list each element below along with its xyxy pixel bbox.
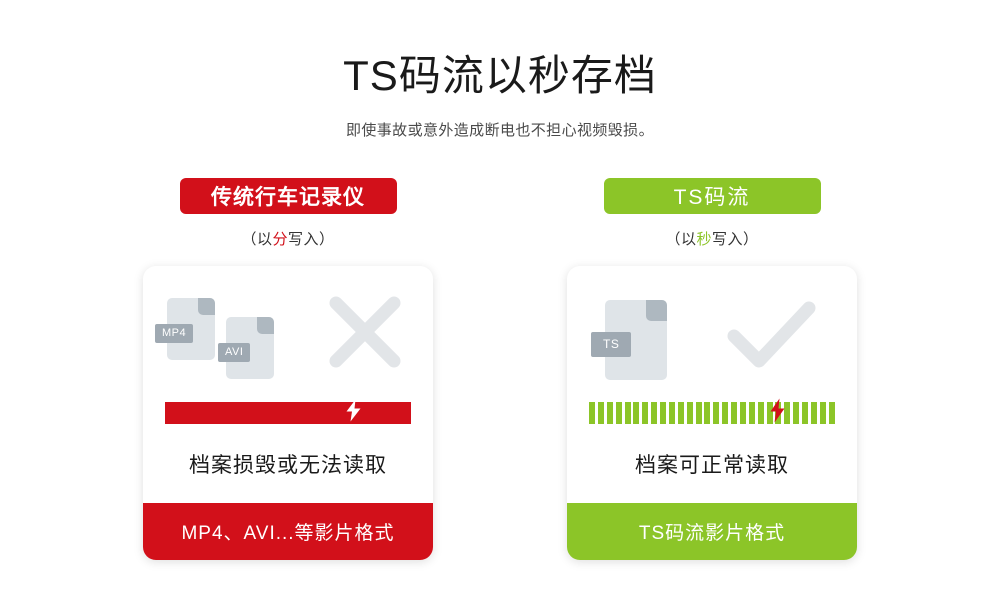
header: TS码流以秒存档 即使事故或意外造成断电也不担心视频毁损。	[0, 0, 1000, 140]
lightning-bolt-icon	[347, 400, 362, 427]
note-highlight: 秒	[696, 231, 712, 248]
page-subtitle: 即使事故或意外造成断电也不担心视频毁损。	[0, 99, 1000, 140]
file-tag-ts: TS	[591, 332, 631, 357]
card-caption-ts-stream: 档案可正常读取	[567, 424, 857, 503]
badge-ts-stream-note: （以秒写入）	[665, 228, 758, 249]
badge-traditional-label: 传统行车记录仪	[211, 181, 365, 211]
cross-icon	[327, 294, 403, 375]
progress-segment	[589, 402, 595, 424]
progress-segment	[731, 402, 737, 424]
icon-row-ts-stream: TS	[567, 266, 857, 402]
progress-segment	[749, 402, 755, 424]
progress-segment	[678, 402, 684, 424]
progress-bar-segments	[589, 402, 835, 424]
file-icon-ts: TS	[605, 300, 667, 380]
column-ts-stream: TS码流 （以秒写入） TS	[567, 178, 857, 560]
progress-segment	[696, 402, 702, 424]
progress-segment	[651, 402, 657, 424]
page-title: TS码流以秒存档	[0, 0, 1000, 99]
file-tag-mp4: MP4	[155, 324, 193, 343]
progress-segment	[793, 402, 799, 424]
note-suffix: 写入）	[712, 231, 759, 248]
progress-bar-ts-stream	[589, 402, 835, 424]
progress-segment	[669, 402, 675, 424]
progress-bar-traditional	[165, 402, 411, 424]
badge-traditional: 传统行车记录仪	[180, 178, 397, 214]
file-tag-avi: AVI	[218, 343, 250, 362]
card-caption-traditional: 档案损毁或无法读取	[143, 424, 433, 503]
file-fold-corner-icon	[257, 317, 274, 334]
card-footer-traditional: MP4、AVI...等影片格式	[143, 503, 433, 560]
badge-traditional-note: （以分写入）	[241, 228, 334, 249]
icon-row-traditional: MP4 AVI	[143, 266, 433, 402]
card-traditional: MP4 AVI	[143, 266, 433, 560]
progress-segment	[625, 402, 631, 424]
progress-segment	[740, 402, 746, 424]
infographic-page: TS码流以秒存档 即使事故或意外造成断电也不担心视频毁损。 传统行车记录仪 （以…	[0, 0, 1000, 600]
file-fold-corner-icon	[646, 300, 667, 321]
progress-segment	[687, 402, 693, 424]
file-icon-mp4: MP4	[167, 298, 215, 360]
note-prefix: （以	[665, 231, 696, 248]
note-highlight: 分	[272, 231, 288, 248]
column-traditional: 传统行车记录仪 （以分写入） MP4	[143, 178, 433, 560]
file-fold-corner-icon	[198, 298, 215, 315]
progress-segment	[758, 402, 764, 424]
progress-segment	[713, 402, 719, 424]
progress-segment	[820, 402, 826, 424]
lightning-bolt-icon	[771, 399, 786, 428]
progress-segment	[660, 402, 666, 424]
note-suffix: 写入）	[288, 231, 335, 248]
card-footer-ts-stream: TS码流影片格式	[567, 503, 857, 560]
progress-segment	[598, 402, 604, 424]
file-icon-avi: AVI	[226, 317, 274, 379]
check-icon	[727, 298, 817, 379]
progress-segment	[633, 402, 639, 424]
card-ts-stream: TS	[567, 266, 857, 560]
progress-bar-fill	[165, 402, 411, 424]
progress-segment	[607, 402, 613, 424]
note-prefix: （以	[241, 231, 272, 248]
progress-segment	[802, 402, 808, 424]
badge-ts-stream: TS码流	[604, 178, 821, 214]
progress-segment	[616, 402, 622, 424]
progress-segment	[722, 402, 728, 424]
progress-segment	[642, 402, 648, 424]
progress-segment	[811, 402, 817, 424]
comparison-columns: 传统行车记录仪 （以分写入） MP4	[0, 178, 1000, 560]
progress-segment	[829, 402, 835, 424]
badge-ts-stream-label: TS码流	[674, 181, 751, 211]
progress-segment	[704, 402, 710, 424]
